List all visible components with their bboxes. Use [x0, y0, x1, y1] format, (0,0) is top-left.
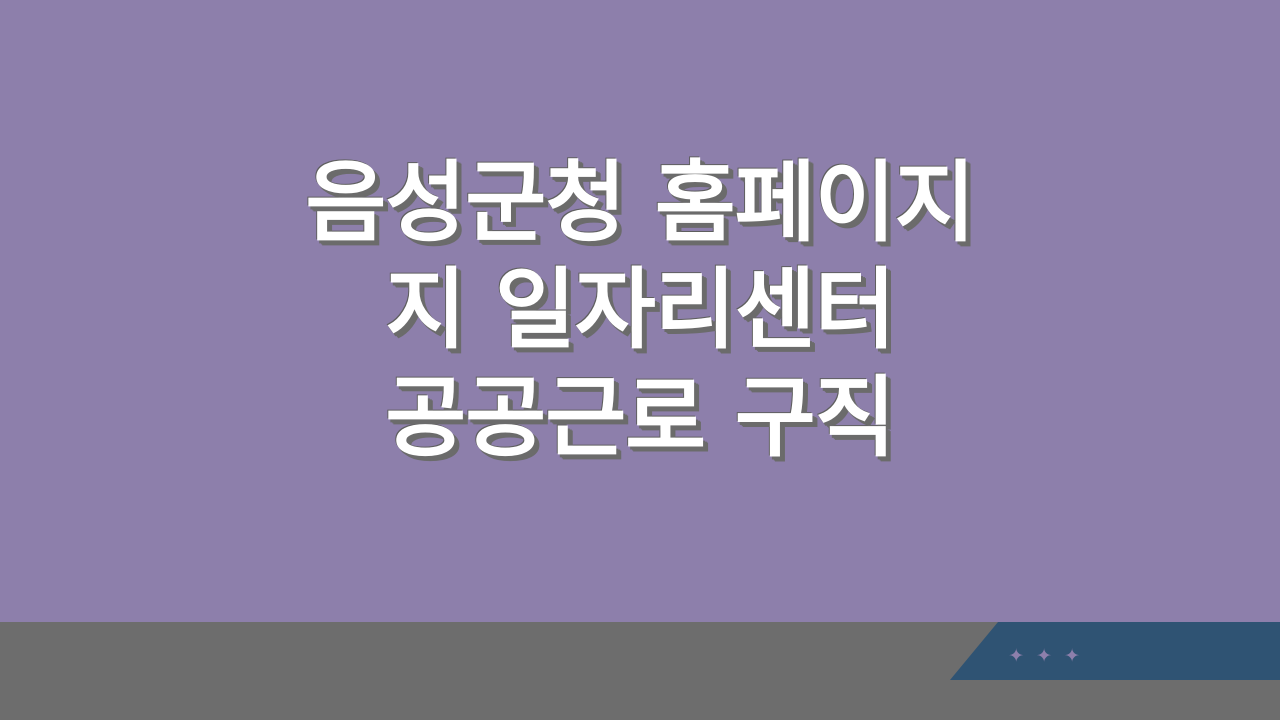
corner-ribbon	[950, 622, 1280, 680]
slide-canvas: ✦ ✦ ✦ 음성군청 홈페이지 지 일자리센터 공공근로 구직	[0, 0, 1280, 720]
page-title: 음성군청 홈페이지 지 일자리센터 공공근로 구직	[140, 149, 1140, 471]
diamond-icon: ✦	[1036, 647, 1052, 666]
title-container: 음성군청 홈페이지 지 일자리센터 공공근로 구직	[0, 0, 1280, 620]
diamond-icon: ✦	[1064, 647, 1080, 666]
diamond-icon: ✦	[1008, 647, 1024, 666]
ribbon-decoration: ✦ ✦ ✦	[1008, 647, 1080, 666]
